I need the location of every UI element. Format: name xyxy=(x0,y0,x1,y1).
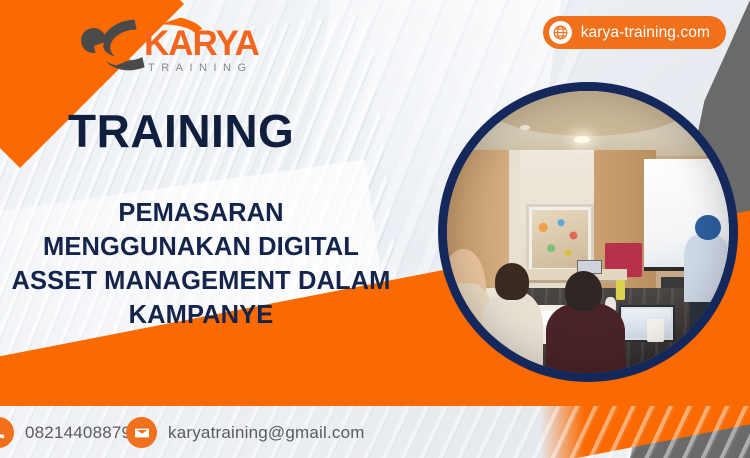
karya-logo[interactable]: KARYA TRAINING xyxy=(78,14,288,76)
course-title: PEMASARAN MENGGUNAKAN DIGITAL ASSET MANA… xyxy=(0,196,416,333)
website-badge[interactable]: karya-training.com xyxy=(543,16,726,49)
training-room-photo xyxy=(447,91,729,373)
phone-icon xyxy=(0,417,14,448)
phone-number: 082144088796 xyxy=(25,423,141,443)
contact-phone[interactable]: 082144088796 xyxy=(0,417,141,448)
training-poster: KARYA TRAINING karya-training.com TRAINI… xyxy=(0,0,750,458)
course-title-line-2: MENGGUNAKAN DIGITAL xyxy=(0,230,416,264)
course-title-line-3: ASSET MANAGEMENT DALAM xyxy=(0,264,416,298)
envelope-icon xyxy=(126,417,157,448)
page-title: TRAINING xyxy=(68,108,294,154)
course-title-line-4: KAMPANYE xyxy=(0,298,416,332)
email-address: karyatraining@gmail.com xyxy=(168,423,365,443)
globe-icon xyxy=(549,21,572,44)
website-url-label: karya-training.com xyxy=(581,24,710,42)
contact-email[interactable]: karyatraining@gmail.com xyxy=(126,417,365,448)
logo-wordmark: KARYA xyxy=(144,26,259,61)
logo-tagline: TRAINING xyxy=(148,62,253,74)
course-title-line-1: PEMASARAN xyxy=(0,196,416,230)
photo-ring xyxy=(438,82,738,382)
